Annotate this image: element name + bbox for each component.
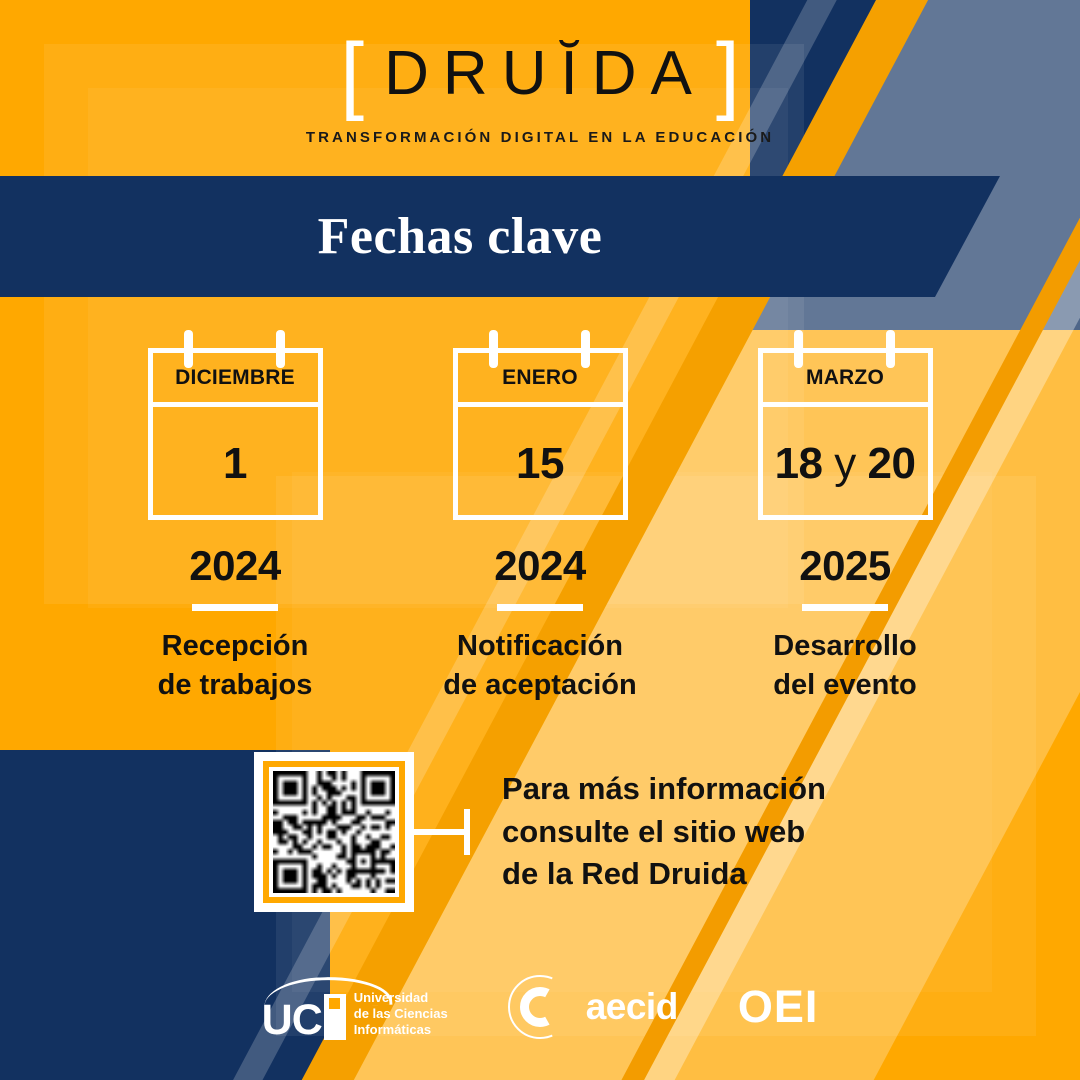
brand-tagline: TRANSFORMACIÓN DIGITAL EN LA EDUCACIÓN — [306, 129, 774, 146]
calendar-icon: ENERO 15 — [453, 330, 628, 520]
date-year: 2024 — [189, 542, 280, 590]
calendar-day-area: 15 — [458, 407, 623, 520]
date-description: Desarrollo del evento — [773, 627, 916, 705]
calendar-day-conjunction — [823, 439, 835, 488]
brand-logo: [ DRUĬDA ] — [340, 31, 740, 117]
calendar-day-conjunction-word: y — [834, 439, 856, 488]
uci-mark: UC — [262, 994, 346, 1040]
date-description-line2: del evento — [773, 666, 916, 705]
calendar-day-area: 1 — [153, 407, 318, 520]
qr-canvas — [273, 771, 395, 893]
calendar-icon: DICIEMBRE 1 — [148, 330, 323, 520]
calendar-day-label: 15 — [516, 439, 564, 489]
date-divider — [802, 604, 888, 611]
date-description-line2: de trabajos — [158, 666, 313, 705]
uci-i-icon — [324, 994, 346, 1040]
date-description: Notificación de aceptación — [443, 627, 636, 705]
calendar-body: ENERO 15 — [453, 348, 628, 520]
logo-aecid: aecid — [508, 975, 678, 1039]
calendar-day-label: 1 — [223, 439, 247, 489]
date-year: 2024 — [494, 542, 585, 590]
calendar-month-label: MARZO — [806, 366, 884, 390]
logo-oei: OEI — [738, 981, 819, 1033]
date-description-line2: de aceptación — [443, 666, 636, 705]
title-banner: Fechas clave — [0, 176, 1000, 297]
brand-header: [ DRUĬDA ] TRANSFORMACIÓN DIGITAL EN LA … — [0, 0, 1080, 176]
calendar-month-band: DICIEMBRE — [153, 353, 318, 407]
connector-line — [414, 829, 464, 835]
calendar-body: MARZO 18 y 20 — [758, 348, 933, 520]
aecid-wordmark: aecid — [586, 986, 678, 1028]
bracket-right-icon: ] — [716, 31, 740, 117]
connector-cap — [464, 809, 470, 855]
sponsor-logos: UC Universidad de las Ciencias Informáti… — [0, 972, 1080, 1042]
aecid-mark-icon — [508, 975, 572, 1039]
key-dates-row: DICIEMBRE 1 2024 Recepción de trabajos — [0, 330, 1080, 705]
page-title: Fechas clave — [318, 207, 603, 266]
qr-code-bitmap — [269, 767, 399, 897]
calendar-month-label: DICIEMBRE — [175, 366, 295, 390]
date-description-line1: Notificación — [443, 627, 636, 666]
bracket-left-icon: [ — [340, 31, 364, 117]
date-card: DICIEMBRE 1 2024 Recepción de trabajos — [83, 330, 388, 705]
qr-code[interactable] — [254, 752, 414, 912]
date-year: 2025 — [799, 542, 890, 590]
date-description-line1: Desarrollo — [773, 627, 916, 666]
aecid-inner-arc — [520, 987, 560, 1027]
calendar-day-label: 18 y 20 — [775, 439, 916, 489]
calendar-icon: MARZO 18 y 20 — [758, 330, 933, 520]
calendar-month-label: ENERO — [502, 366, 578, 390]
qr-caption-line1: Para más información — [502, 768, 826, 811]
date-divider — [497, 604, 583, 611]
date-description: Recepción de trabajos — [158, 627, 313, 705]
qr-connector — [414, 809, 470, 855]
qr-caption: Para más información consulte el sitio w… — [502, 768, 826, 896]
date-divider — [192, 604, 278, 611]
calendar-day-first: 18 — [775, 439, 823, 488]
date-card: MARZO 18 y 20 2025 Desarrollo del evento — [693, 330, 998, 705]
qr-section: Para más información consulte el sitio w… — [0, 752, 1080, 912]
uci-subtitle-line3: Informáticas — [354, 1022, 448, 1038]
uci-subtitle-line2: de las Ciencias — [354, 1006, 448, 1022]
calendar-month-band: MARZO — [763, 353, 928, 407]
calendar-day-second: 20 — [867, 439, 915, 488]
brand-name: DRUĬDA — [374, 43, 706, 105]
calendar-day-area: 18 y 20 — [763, 407, 928, 520]
date-card: ENERO 15 2024 Notificación de aceptación — [388, 330, 693, 705]
logo-uci: UC Universidad de las Ciencias Informáti… — [262, 974, 448, 1041]
poster-canvas: [ DRUĬDA ] TRANSFORMACIÓN DIGITAL EN LA … — [0, 0, 1080, 1080]
calendar-body: DICIEMBRE 1 — [148, 348, 323, 520]
calendar-month-band: ENERO — [458, 353, 623, 407]
qr-caption-line2: consulte el sitio web — [502, 811, 826, 854]
date-description-line1: Recepción — [158, 627, 313, 666]
qr-caption-line3: de la Red Druida — [502, 853, 826, 896]
